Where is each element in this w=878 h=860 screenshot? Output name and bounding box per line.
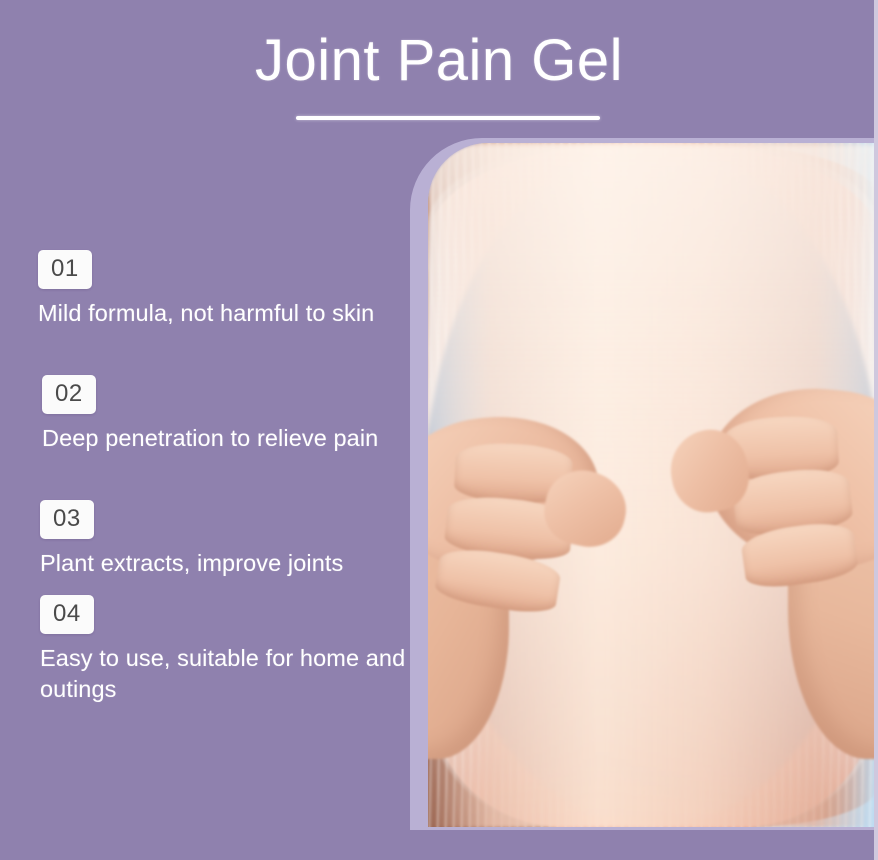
page-title: Joint Pain Gel bbox=[0, 26, 878, 96]
knee-joint-photo bbox=[428, 143, 878, 827]
feature-item-04: 04 Easy to use, suitable for home and ou… bbox=[0, 595, 452, 705]
feature-number-badge: 03 bbox=[40, 500, 94, 539]
feature-text: Mild formula, not harmful to skin bbox=[38, 298, 410, 329]
title-block: Joint Pain Gel bbox=[0, 0, 878, 140]
title-divider bbox=[296, 116, 600, 120]
feature-text: Deep penetration to relieve pain bbox=[42, 423, 414, 454]
feature-text: Easy to use, suitable for home and outin… bbox=[40, 643, 412, 705]
feature-text: Plant extracts, improve joints bbox=[40, 548, 412, 579]
product-poster: Joint Pain Gel bbox=[0, 0, 878, 860]
right-edge-strip bbox=[874, 0, 878, 860]
feature-item-01: 01 Mild formula, not harmful to skin bbox=[0, 250, 450, 329]
bottom-edge-strip bbox=[0, 850, 878, 860]
feature-number-badge: 04 bbox=[40, 595, 94, 634]
feature-number-badge: 01 bbox=[38, 250, 92, 289]
feature-number-badge: 02 bbox=[42, 375, 96, 414]
feature-item-03: 03 Plant extracts, improve joints bbox=[0, 500, 452, 579]
feature-item-02: 02 Deep penetration to relieve pain bbox=[0, 375, 454, 454]
